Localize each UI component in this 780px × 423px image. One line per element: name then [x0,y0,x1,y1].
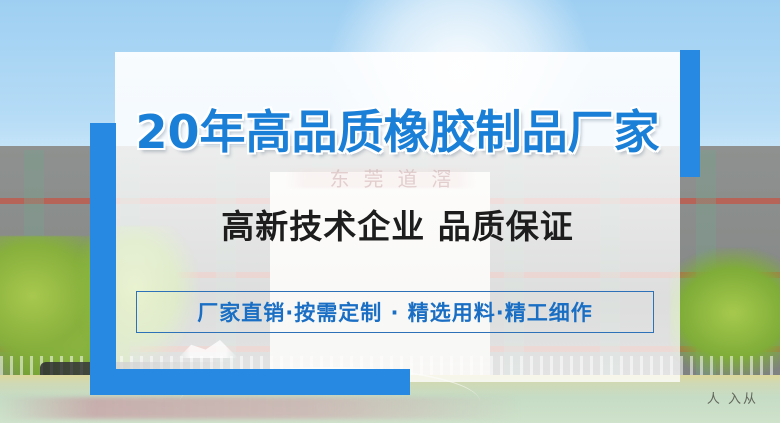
decor-bar-top-right [680,50,700,177]
background-signboard-text: 东莞道滘 [115,163,680,192]
tagline-text: 厂家直销·按需定制 · 精选用料·精工细作 [197,297,593,327]
subheadline-text: 高新技术企业 品质保证 [115,200,680,248]
decor-bar-left [90,123,116,395]
court-ground-text: 人 入从 [707,388,758,407]
promo-banner: 人 入从 东莞道滘 20年高品质橡胶制品厂家 高新技术企业 品质保证 厂家直销·… [0,0,780,423]
tagline-box: 厂家直销·按需定制 · 精选用料·精工细作 [136,291,654,333]
decor-bar-bottom [90,369,410,395]
headline-text: 20年高品质橡胶制品厂家 [115,96,680,162]
